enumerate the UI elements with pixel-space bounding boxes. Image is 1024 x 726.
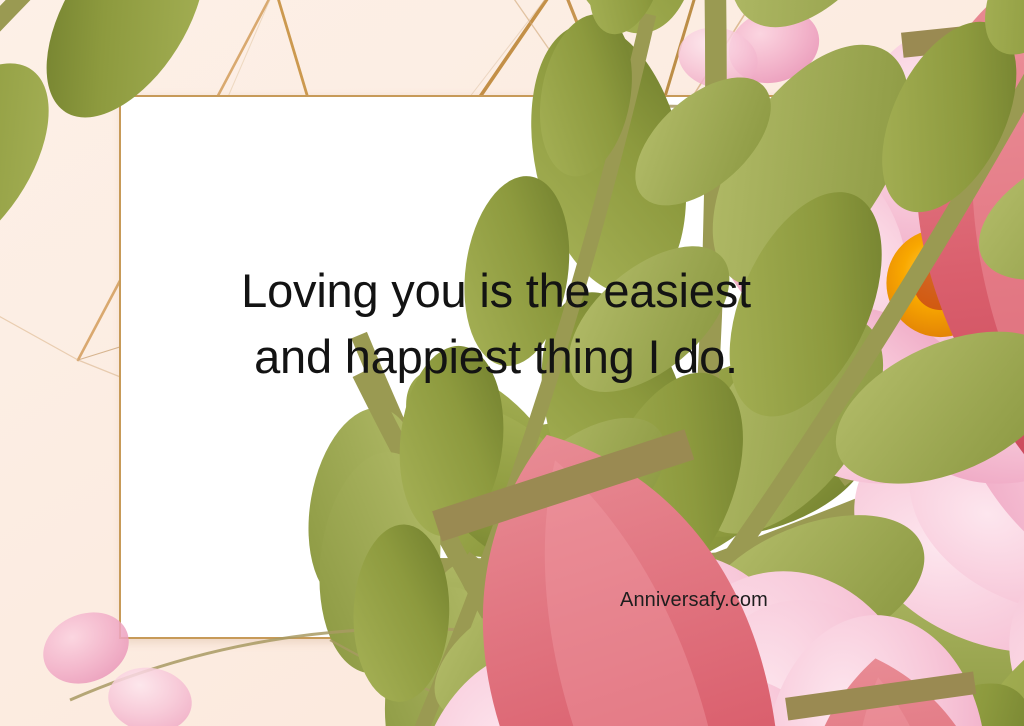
quote-text: Loving you is the easiest and happiest t…: [140, 258, 852, 390]
quote-card-canvas: Loving you is the easiest and happiest t…: [0, 0, 1024, 726]
site-watermark: Anniversafy.com: [620, 589, 768, 612]
